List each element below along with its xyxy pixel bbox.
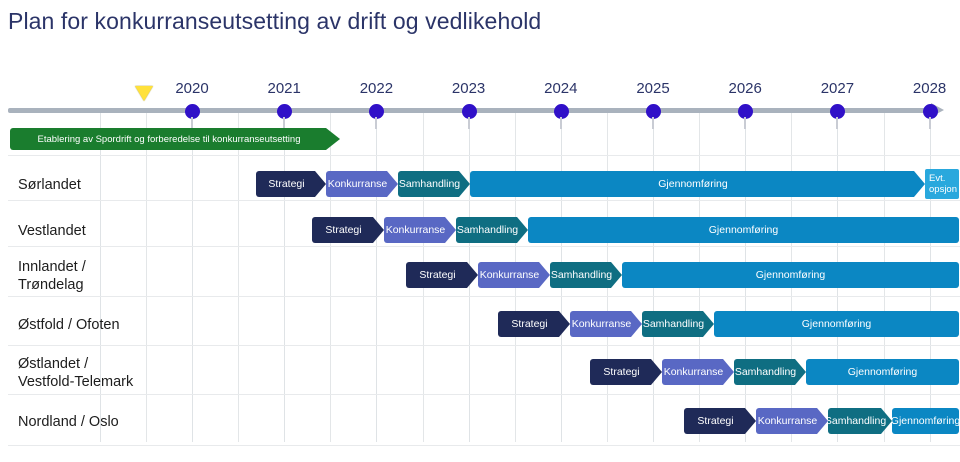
bar-gjennomforing-row3[interactable]: Gjennomføring (622, 262, 959, 288)
grid-line-vertical (330, 113, 331, 442)
grid-line-horizontal (8, 445, 960, 446)
grid-line-horizontal (8, 246, 960, 247)
page-title: Plan for konkurranseutsetting av drift o… (8, 8, 541, 35)
bar-strategi-row5[interactable]: Strategi (590, 359, 662, 385)
grid-line-horizontal (8, 200, 960, 201)
row-label-2: Vestlandet (18, 222, 86, 240)
bar-konkurranse-row4[interactable]: Konkurranse (570, 311, 642, 337)
axis-tick-stem (652, 117, 654, 129)
bar-samhandling-row5[interactable]: Samhandling (734, 359, 806, 385)
grid-line-vertical (376, 113, 377, 442)
axis-year-label-2027: 2027 (821, 80, 854, 97)
row-label-4: Østfold / Ofoten (18, 316, 120, 334)
bar-strategi-row4[interactable]: Strategi (498, 311, 570, 337)
bar-strategi-row6[interactable]: Strategi (684, 408, 756, 434)
banner-etablering: Etablering av Spordrift og forberedelse … (10, 128, 340, 150)
bar-samhandling-row3[interactable]: Samhandling (550, 262, 622, 288)
grid-line-vertical (192, 113, 193, 442)
axis-tick-stem (375, 117, 377, 129)
gantt-chart: 202020212022202320242025202620272028 Eta… (0, 100, 960, 452)
current-time-marker-icon (135, 86, 153, 101)
axis-tick-stem (283, 117, 285, 129)
axis-year-label-2022: 2022 (360, 80, 393, 97)
bar-samhandling-row6[interactable]: Samhandling (828, 408, 892, 434)
bar-konkurranse-row6[interactable]: Konkurranse (756, 408, 828, 434)
bar-opsjon-row1[interactable]: Evt. opsjon (925, 169, 959, 199)
axis-year-label-2023: 2023 (452, 80, 485, 97)
row-label-5: Østlandet / Vestfold-Telemark (18, 355, 133, 391)
bar-samhandling-row2[interactable]: Samhandling (456, 217, 528, 243)
bar-gjennomforing-row2[interactable]: Gjennomføring (528, 217, 959, 243)
bar-strategi-row1[interactable]: Strategi (256, 171, 326, 197)
axis-year-label-2028: 2028 (913, 80, 946, 97)
grid-line-horizontal (8, 296, 960, 297)
row-label-1: Sørlandet (18, 176, 81, 194)
grid-line-horizontal (8, 155, 960, 156)
bar-konkurranse-row3[interactable]: Konkurranse (478, 262, 550, 288)
bar-konkurranse-row5[interactable]: Konkurranse (662, 359, 734, 385)
axis-year-label-2025: 2025 (636, 80, 669, 97)
bar-samhandling-row1[interactable]: Samhandling (398, 171, 470, 197)
axis-tick-stem (191, 117, 193, 129)
bar-konkurranse-row1[interactable]: Konkurranse (326, 171, 398, 197)
axis-tick-stem (929, 117, 931, 129)
row-label-3: Innlandet / Trøndelag (18, 258, 86, 294)
grid-line-horizontal (8, 394, 960, 395)
axis-tick-stem (468, 117, 470, 129)
bar-strategi-row3[interactable]: Strategi (406, 262, 478, 288)
axis-tick-stem (744, 117, 746, 129)
bar-gjennomforing-row4[interactable]: Gjennomføring (714, 311, 959, 337)
axis-year-label-2020: 2020 (175, 80, 208, 97)
bar-strategi-row2[interactable]: Strategi (312, 217, 384, 243)
axis-tick-stem (836, 117, 838, 129)
grid-line-horizontal (8, 345, 960, 346)
bar-gjennomforing-row6[interactable]: Gjennomføring (892, 408, 959, 434)
bar-gjennomforing-row1[interactable]: Gjennomføring (470, 171, 925, 197)
bar-konkurranse-row2[interactable]: Konkurranse (384, 217, 456, 243)
axis-year-label-2026: 2026 (729, 80, 762, 97)
axis-year-label-2024: 2024 (544, 80, 577, 97)
axis-tick-stem (560, 117, 562, 129)
bar-samhandling-row4[interactable]: Samhandling (642, 311, 714, 337)
row-label-6: Nordland / Oslo (18, 413, 119, 431)
axis-year-label-2021: 2021 (268, 80, 301, 97)
grid-line-vertical (284, 113, 285, 442)
grid-line-vertical (146, 113, 147, 442)
grid-line-vertical (238, 113, 239, 442)
grid-line-vertical (100, 113, 101, 442)
bar-gjennomforing-row5[interactable]: Gjennomføring (806, 359, 959, 385)
